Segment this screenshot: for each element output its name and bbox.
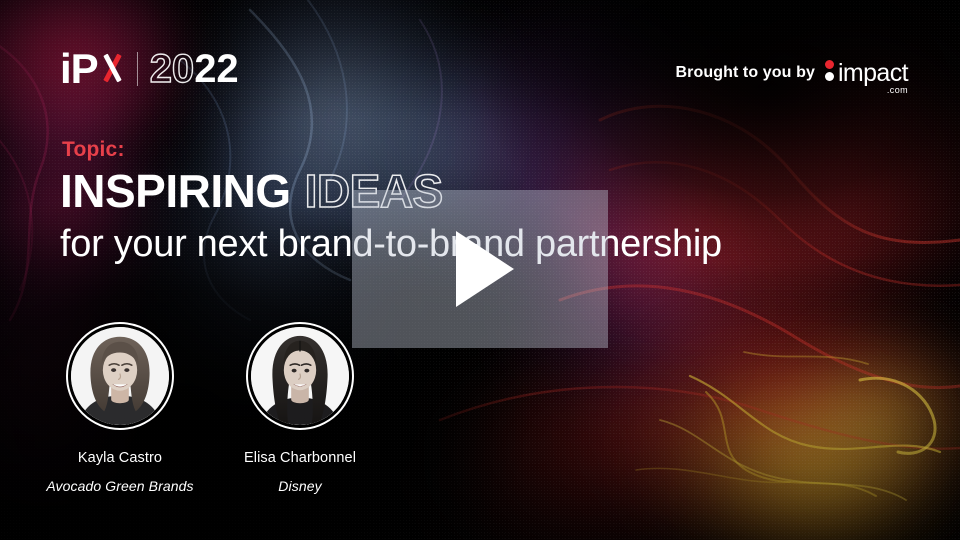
ipx-letters: iP bbox=[60, 48, 98, 90]
sponsor-byline: Brought to you by impact .com bbox=[675, 60, 908, 86]
byline-text: Brought to you by bbox=[675, 64, 814, 82]
play-triangle-icon bbox=[456, 231, 514, 307]
impact-wordmark: impact .com bbox=[838, 62, 908, 86]
speaker-card: Kayla Castro Avocado Green Brands bbox=[46, 322, 194, 494]
speaker-name: Kayla Castro bbox=[78, 450, 162, 466]
ipx-logo: iP 2022 bbox=[60, 48, 239, 90]
portrait-illustration bbox=[71, 327, 169, 425]
ipx-wordmark: iP bbox=[60, 48, 125, 90]
video-thumbnail-slide: iP 2022 Brought to you by impact .com bbox=[0, 0, 960, 540]
ipx-x-icon bbox=[99, 53, 125, 83]
year-outline-part: 20 bbox=[150, 49, 195, 89]
speaker-list: Kayla Castro Avocado Green Brands bbox=[46, 322, 374, 494]
topic-label: Topic: bbox=[62, 138, 125, 162]
headline-solid-word: INSPIRING bbox=[60, 167, 291, 215]
speaker-name: Elisa Charbonnel bbox=[244, 450, 356, 466]
speaker-org: Disney bbox=[278, 478, 321, 494]
speaker-photo-kayla-castro bbox=[71, 327, 169, 425]
logo-divider bbox=[137, 52, 138, 86]
event-year: 2022 bbox=[150, 49, 239, 89]
portrait-illustration bbox=[251, 327, 349, 425]
speaker-org: Avocado Green Brands bbox=[46, 478, 193, 494]
avatar bbox=[66, 322, 174, 430]
avatar bbox=[246, 322, 354, 430]
year-solid-part: 22 bbox=[194, 49, 239, 89]
impact-logo[interactable]: impact .com bbox=[825, 60, 908, 86]
impact-tld: .com bbox=[887, 85, 908, 95]
speaker-photo-elisa-charbonnel bbox=[251, 327, 349, 425]
play-button[interactable] bbox=[352, 190, 608, 348]
impact-name: impact bbox=[838, 59, 908, 87]
impact-mark-icon bbox=[825, 60, 834, 86]
